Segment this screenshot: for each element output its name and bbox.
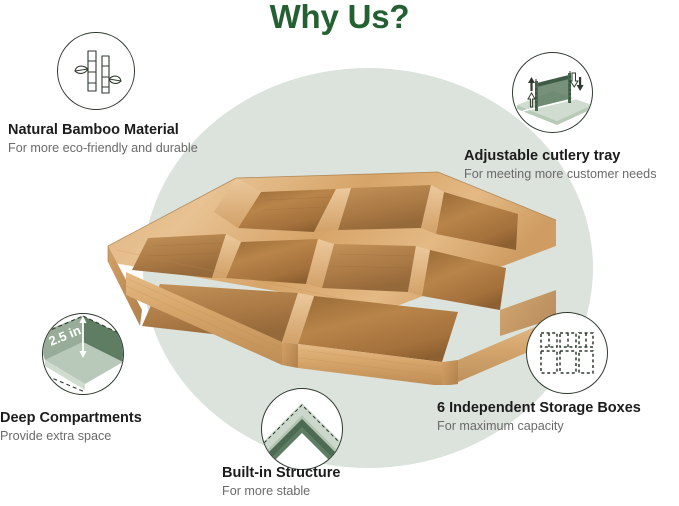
feature-adjustable-cutlery-tray: Adjustable cutlery tray For meeting more… (464, 148, 657, 182)
feature-subtitle: For more stable (222, 484, 340, 499)
feature-title: Deep Compartments (0, 410, 142, 427)
feature-title: 6 Independent Storage Boxes (437, 400, 641, 417)
feature-title: Natural Bamboo Material (8, 122, 198, 139)
bamboo-stalks-icon (57, 32, 135, 110)
feature-title: Adjustable cutlery tray (464, 148, 657, 165)
feature-natural-bamboo-material: Natural Bamboo Material For more eco-fri… (8, 122, 198, 156)
dashed-grid-icon (526, 312, 608, 394)
feature-subtitle: For maximum capacity (437, 419, 641, 434)
feature-deep-compartments: Deep Compartments Provide extra space (0, 410, 142, 444)
feature-title: Built-in Structure (222, 465, 340, 482)
feature-subtitle: For meeting more customer needs (464, 167, 657, 182)
depth-measure-icon: 2.5 in (42, 313, 124, 395)
product-image (86, 150, 556, 385)
adjustable-divider-icon (512, 52, 593, 133)
feature-6-independent-storage-boxes: 6 Independent Storage Boxes For maximum … (437, 400, 641, 434)
feature-subtitle: For more eco-friendly and durable (8, 141, 198, 156)
page-title: Why Us? (0, 0, 679, 36)
bamboo-tray-illustration (86, 150, 556, 385)
corner-joint-icon (261, 388, 343, 470)
feature-built-in-structure: Built-in Structure For more stable (222, 465, 340, 499)
feature-subtitle: Provide extra space (0, 429, 142, 444)
infographic-canvas: Why Us? (0, 0, 679, 506)
